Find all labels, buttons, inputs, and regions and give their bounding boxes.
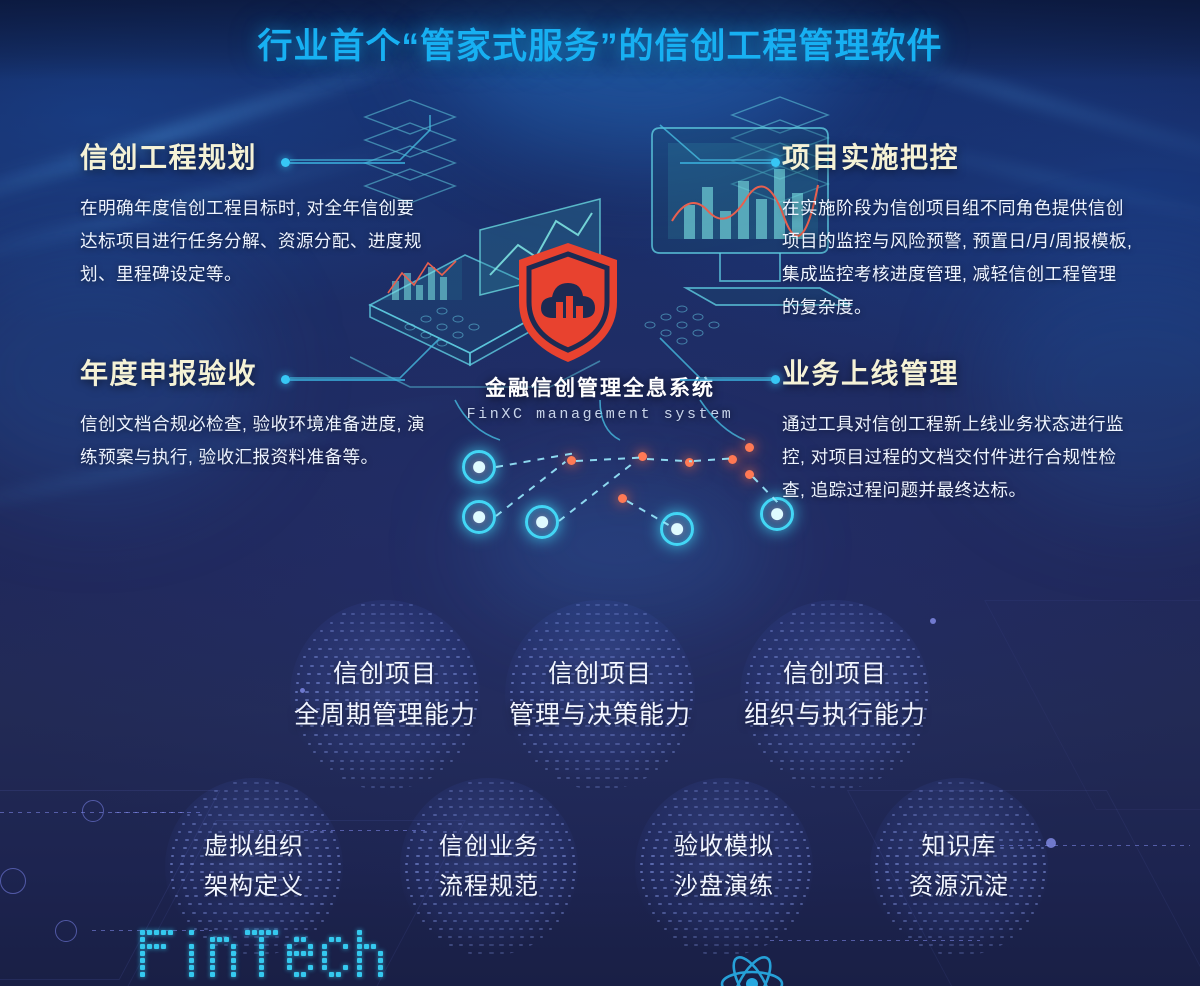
capability-sphere-secondary: 验收模拟 沙盘演练 xyxy=(635,778,813,956)
capability-line-2: 架构定义 xyxy=(165,867,343,907)
capability-sphere-secondary: 信创业务 流程规范 xyxy=(400,778,578,956)
network-node-ring xyxy=(525,505,559,539)
capability-sphere: 信创项目 组织与执行能力 xyxy=(740,600,930,790)
capability-line-2: 组织与执行能力 xyxy=(740,695,930,736)
capability-label: 信创项目 全周期管理能力 xyxy=(290,654,480,736)
system-name-en: FinXC management system xyxy=(400,406,800,423)
capability-line-2: 全周期管理能力 xyxy=(290,695,480,736)
network-node-dot xyxy=(638,452,647,461)
network-node-dot xyxy=(685,458,694,467)
feature-block-implementation: 项目实施把控 在实施阶段为信创项目组不同角色提供信创项目的监控与风险预警, 预置… xyxy=(782,136,1134,324)
capability-label: 信创项目 组织与执行能力 xyxy=(740,654,930,736)
connector-line xyxy=(290,379,405,381)
capability-sphere: 信创项目 管理与决策能力 xyxy=(505,600,695,790)
connector-dot xyxy=(771,158,780,167)
page-title: 行业首个“管家式服务”的信创工程管理软件 xyxy=(0,18,1200,69)
capability-line-1: 信创业务 xyxy=(400,827,578,867)
connector-line xyxy=(680,162,771,164)
feature-block-annual-acceptance: 年度申报验收 信创文档合规必检查, 验收环境准备进度, 演练预案与执行, 验收汇… xyxy=(80,352,432,474)
feature-body: 在明确年度信创工程目标时, 对全年信创要达标项目进行任务分解、资源分配、进度规划… xyxy=(80,192,432,291)
fintech-wordmark xyxy=(140,930,330,972)
feature-heading: 信创工程规划 xyxy=(80,136,432,176)
shield-cloud-chart-icon xyxy=(513,240,623,365)
connector-dot xyxy=(281,158,290,167)
network-node-ring xyxy=(462,500,496,534)
capability-line-2: 资源沉淀 xyxy=(870,867,1048,907)
capability-line-2: 管理与决策能力 xyxy=(505,695,695,736)
network-node-dot xyxy=(618,494,627,503)
feature-body: 在实施阶段为信创项目组不同角色提供信创项目的监控与风险预警, 预置日/月/周报模… xyxy=(782,192,1134,324)
feature-heading: 业务上线管理 xyxy=(782,352,1134,392)
system-name-cn: 金融信创管理全息系统 xyxy=(400,372,800,402)
capability-line-1: 信创项目 xyxy=(290,654,480,695)
connector-dot xyxy=(771,375,780,384)
infographic-poster: 行业首个“管家式服务”的信创工程管理软件 xyxy=(0,0,1200,986)
capability-sphere: 信创项目 全周期管理能力 xyxy=(290,600,480,790)
feature-body: 信创文档合规必检查, 验收环境准备进度, 演练预案与执行, 验收汇报资料准备等。 xyxy=(80,408,432,474)
network-node-dot xyxy=(728,455,737,464)
capability-sphere-secondary: 知识库 资源沉淀 xyxy=(870,778,1048,956)
capability-label: 知识库 资源沉淀 xyxy=(870,827,1048,907)
network-node-ring xyxy=(462,450,496,484)
connector-dot xyxy=(281,375,290,384)
feature-block-planning: 信创工程规划 在明确年度信创工程目标时, 对全年信创要达标项目进行任务分解、资源… xyxy=(80,136,432,291)
capability-label: 信创项目 管理与决策能力 xyxy=(505,654,695,736)
capability-line-2: 沙盘演练 xyxy=(635,867,813,907)
feature-block-business-launch: 业务上线管理 通过工具对信创工程新上线业务状态进行监控, 对项目过程的文档交付件… xyxy=(782,352,1134,507)
capability-line-1: 信创项目 xyxy=(740,654,930,695)
capability-label: 验收模拟 沙盘演练 xyxy=(635,827,813,907)
network-node-dot xyxy=(745,443,754,452)
feature-body: 通过工具对信创工程新上线业务状态进行监控, 对项目过程的文档交付件进行合规性检查… xyxy=(782,408,1134,507)
connector-line xyxy=(290,162,405,164)
capability-line-1: 虚拟组织 xyxy=(165,827,343,867)
capability-line-1: 验收模拟 xyxy=(635,827,813,867)
capability-label: 信创业务 流程规范 xyxy=(400,827,578,907)
atom-icon xyxy=(715,944,789,986)
capability-label: 虚拟组织 架构定义 xyxy=(165,827,343,907)
network-node-dot xyxy=(567,456,576,465)
capability-line-1: 信创项目 xyxy=(505,654,695,695)
network-node-dot xyxy=(745,470,754,479)
network-node-ring xyxy=(660,512,694,546)
feature-heading: 年度申报验收 xyxy=(80,352,432,392)
connector-line xyxy=(680,379,771,381)
feature-heading: 项目实施把控 xyxy=(782,136,1134,176)
capability-line-1: 知识库 xyxy=(870,827,1048,867)
capability-line-2: 流程规范 xyxy=(400,867,578,907)
